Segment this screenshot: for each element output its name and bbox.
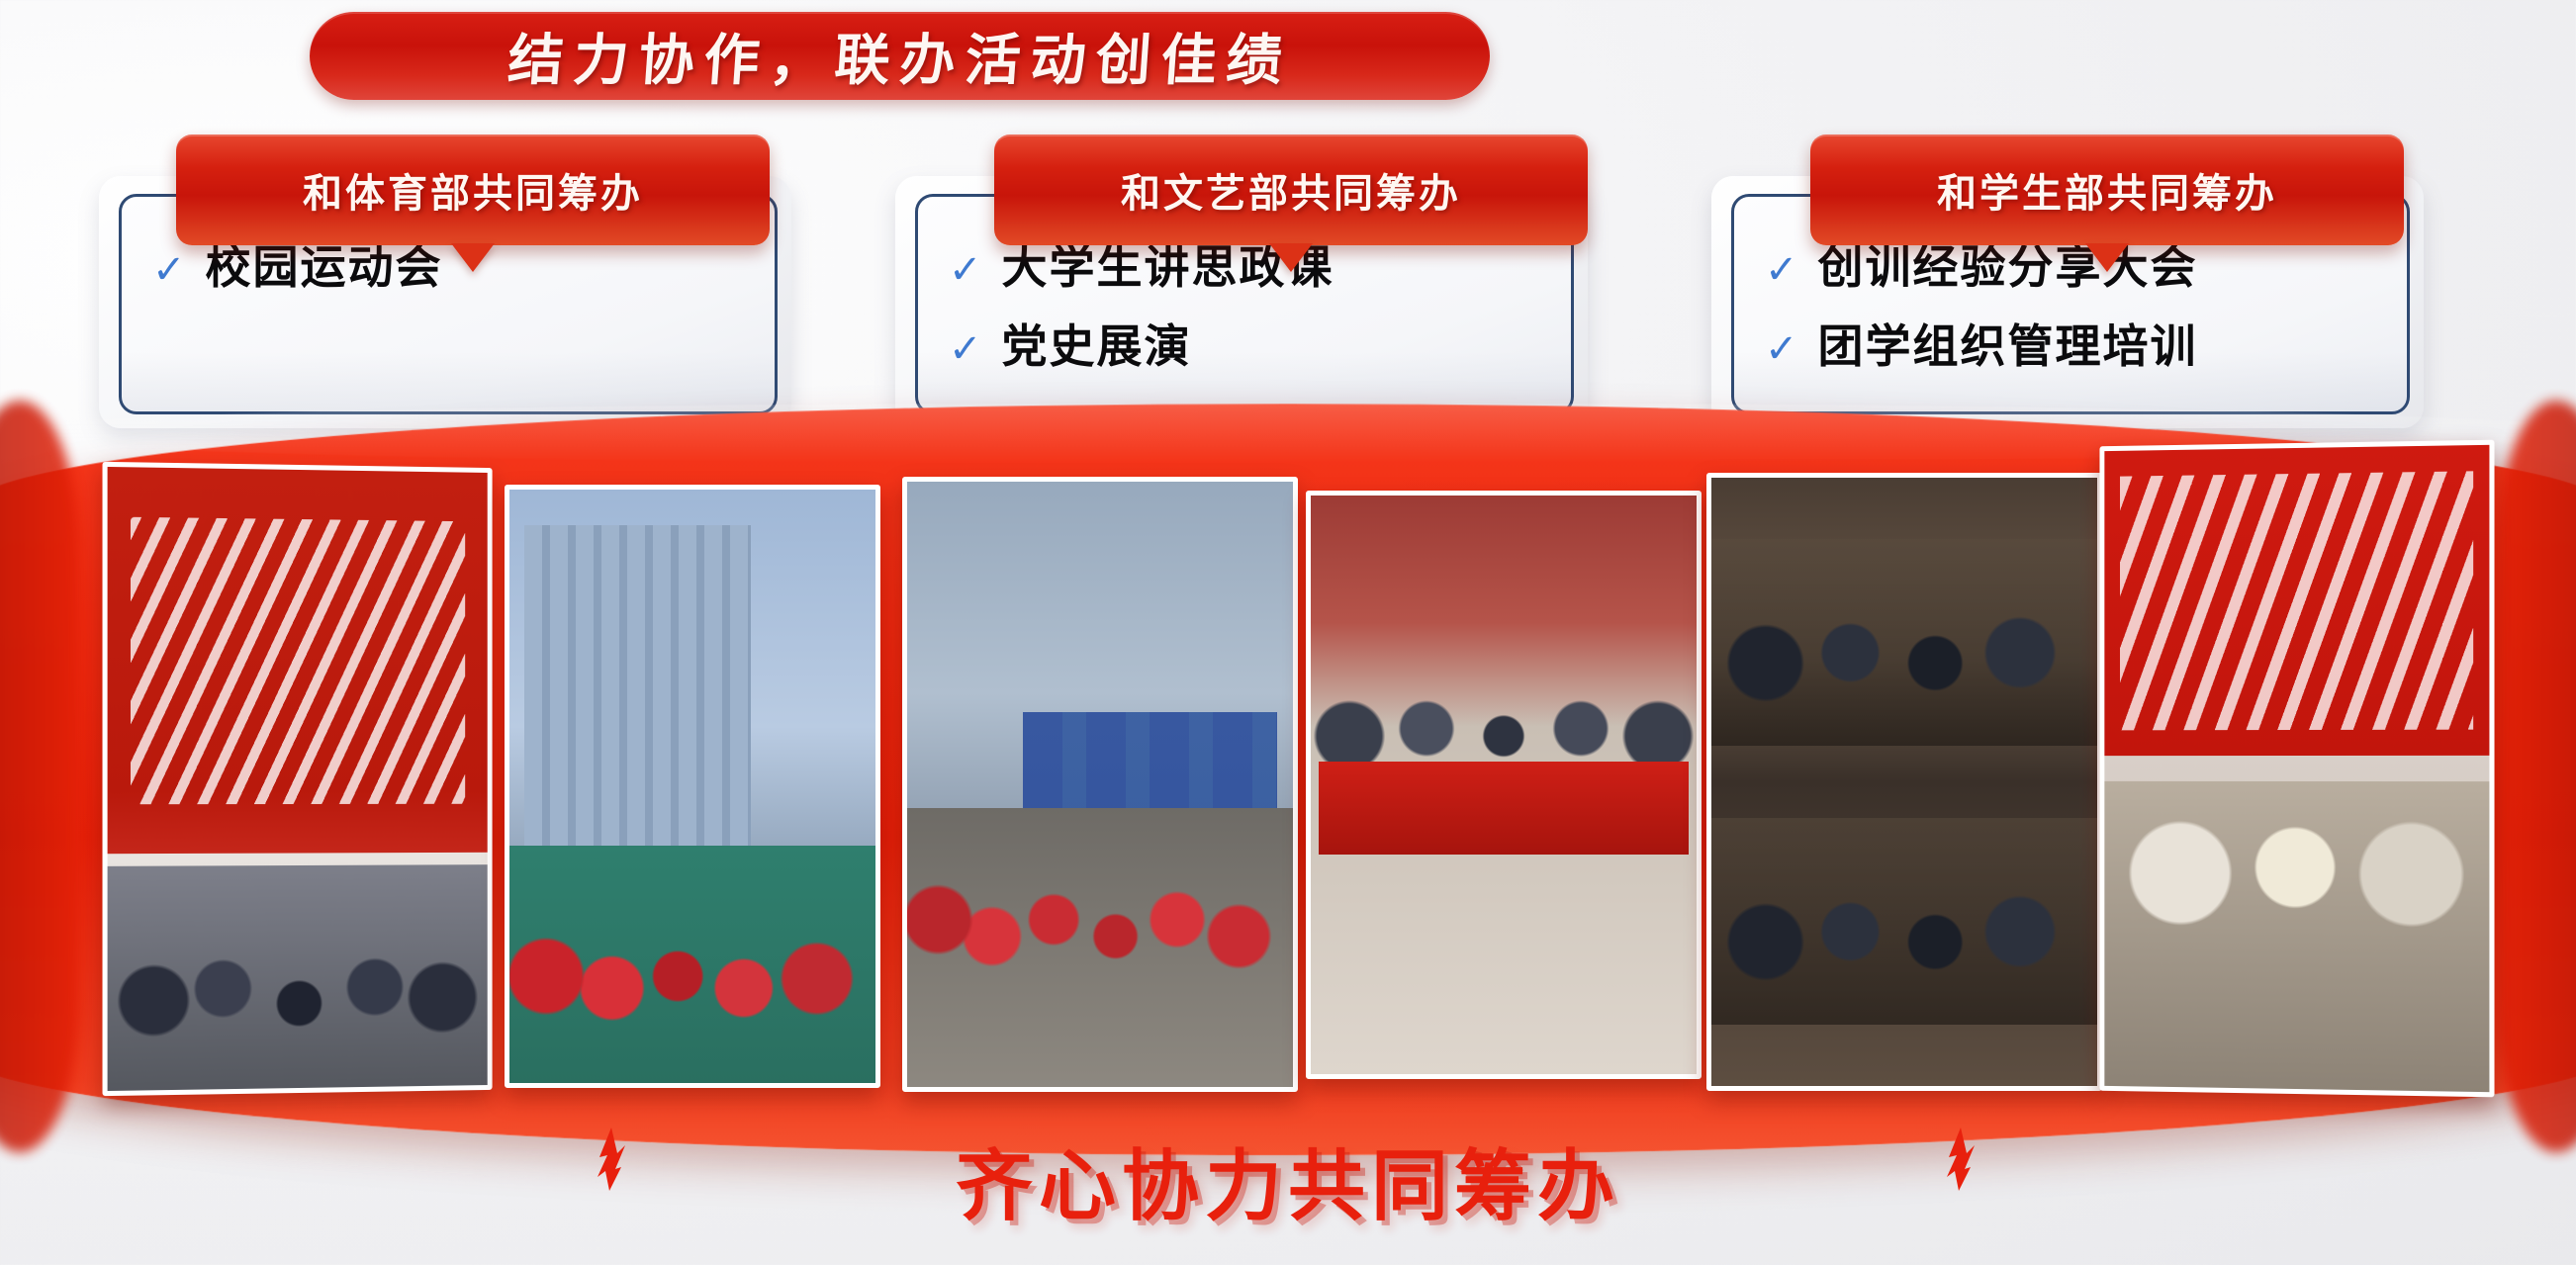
- photo-banner-text: [131, 517, 465, 804]
- card-student-department[interactable]: 和学生部共同筹办 ✓ 创训经验分享大会 ✓ 团学组织管理培训: [1711, 176, 2424, 428]
- check-mark-icon: ✓: [1765, 329, 1798, 369]
- photo-crowd: [108, 864, 488, 1091]
- photo-red-banner: [1319, 762, 1689, 855]
- photo-crowd: [509, 846, 875, 1083]
- gallery-photo[interactable]: [2099, 440, 2494, 1098]
- gallery-photo[interactable]: [505, 485, 880, 1088]
- photo-row-bottom: [1711, 818, 2097, 1025]
- photo-crowd: [2104, 781, 2489, 1092]
- gallery-photo[interactable]: [1306, 491, 1702, 1079]
- footer-caption-label: 齐心协力共同筹办: [956, 1125, 1620, 1235]
- slide-root: 结力协作，联办活动创佳绩 和体育部共同筹办 ✓ 校园运动会 和文艺部共同筹: [0, 0, 2576, 1265]
- card-arts-department[interactable]: 和文艺部共同筹办 ✓ 大学生讲思政课 ✓ 党史展演: [895, 176, 1588, 428]
- card-sports-department[interactable]: 和体育部共同筹办 ✓ 校园运动会: [99, 176, 791, 428]
- gallery-photo[interactable]: [1706, 473, 2102, 1091]
- card-header-label: 和文艺部共同筹办: [1121, 161, 1461, 219]
- cards-container: 和体育部共同筹办 ✓ 校园运动会 和文艺部共同筹办 ✓ 大学生讲思政课: [0, 117, 2576, 443]
- card-header-bubble: 和体育部共同筹办: [176, 135, 770, 245]
- photo-banner-text: [2120, 471, 2474, 730]
- photo-gallery: [0, 425, 2576, 1098]
- card-header-bubble: 和学生部共同筹办: [1810, 135, 2404, 245]
- slide-title-banner: 结力协作，联办活动创佳绩: [310, 12, 1490, 100]
- card-header-bubble: 和文艺部共同筹办: [994, 135, 1588, 245]
- bubble-tail-icon: [1269, 243, 1313, 272]
- list-item[interactable]: ✓ 党史展演: [949, 311, 1570, 376]
- list-item-label: 党史展演: [1002, 311, 1192, 376]
- bubble-tail-icon: [451, 243, 495, 272]
- photo-tents: [1023, 712, 1277, 821]
- check-mark-icon: ✓: [949, 250, 982, 290]
- gallery-photo[interactable]: [902, 477, 1298, 1092]
- footer-caption: 齐心协力共同筹办: [0, 1116, 2576, 1244]
- list-item[interactable]: ✓ 团学组织管理培训: [1765, 311, 2406, 376]
- bubble-tail-icon: [2085, 243, 2129, 272]
- card-header-label: 和学生部共同筹办: [1937, 161, 2277, 219]
- photo-building: [524, 525, 751, 858]
- check-mark-icon: ✓: [1765, 250, 1798, 290]
- photo-row-top: [1711, 539, 2097, 746]
- list-item-label: 团学组织管理培训: [1818, 311, 2198, 376]
- photo-crowd: [907, 808, 1293, 1087]
- card-item-list: ✓ 大学生讲思政课 ✓ 党史展演: [949, 231, 1570, 390]
- page-title: 结力协作，联办活动创佳绩: [506, 16, 1295, 96]
- card-header-label: 和体育部共同筹办: [303, 161, 643, 219]
- check-mark-icon: ✓: [949, 329, 982, 369]
- check-mark-icon: ✓: [152, 250, 186, 290]
- gallery-photo[interactable]: [103, 462, 493, 1096]
